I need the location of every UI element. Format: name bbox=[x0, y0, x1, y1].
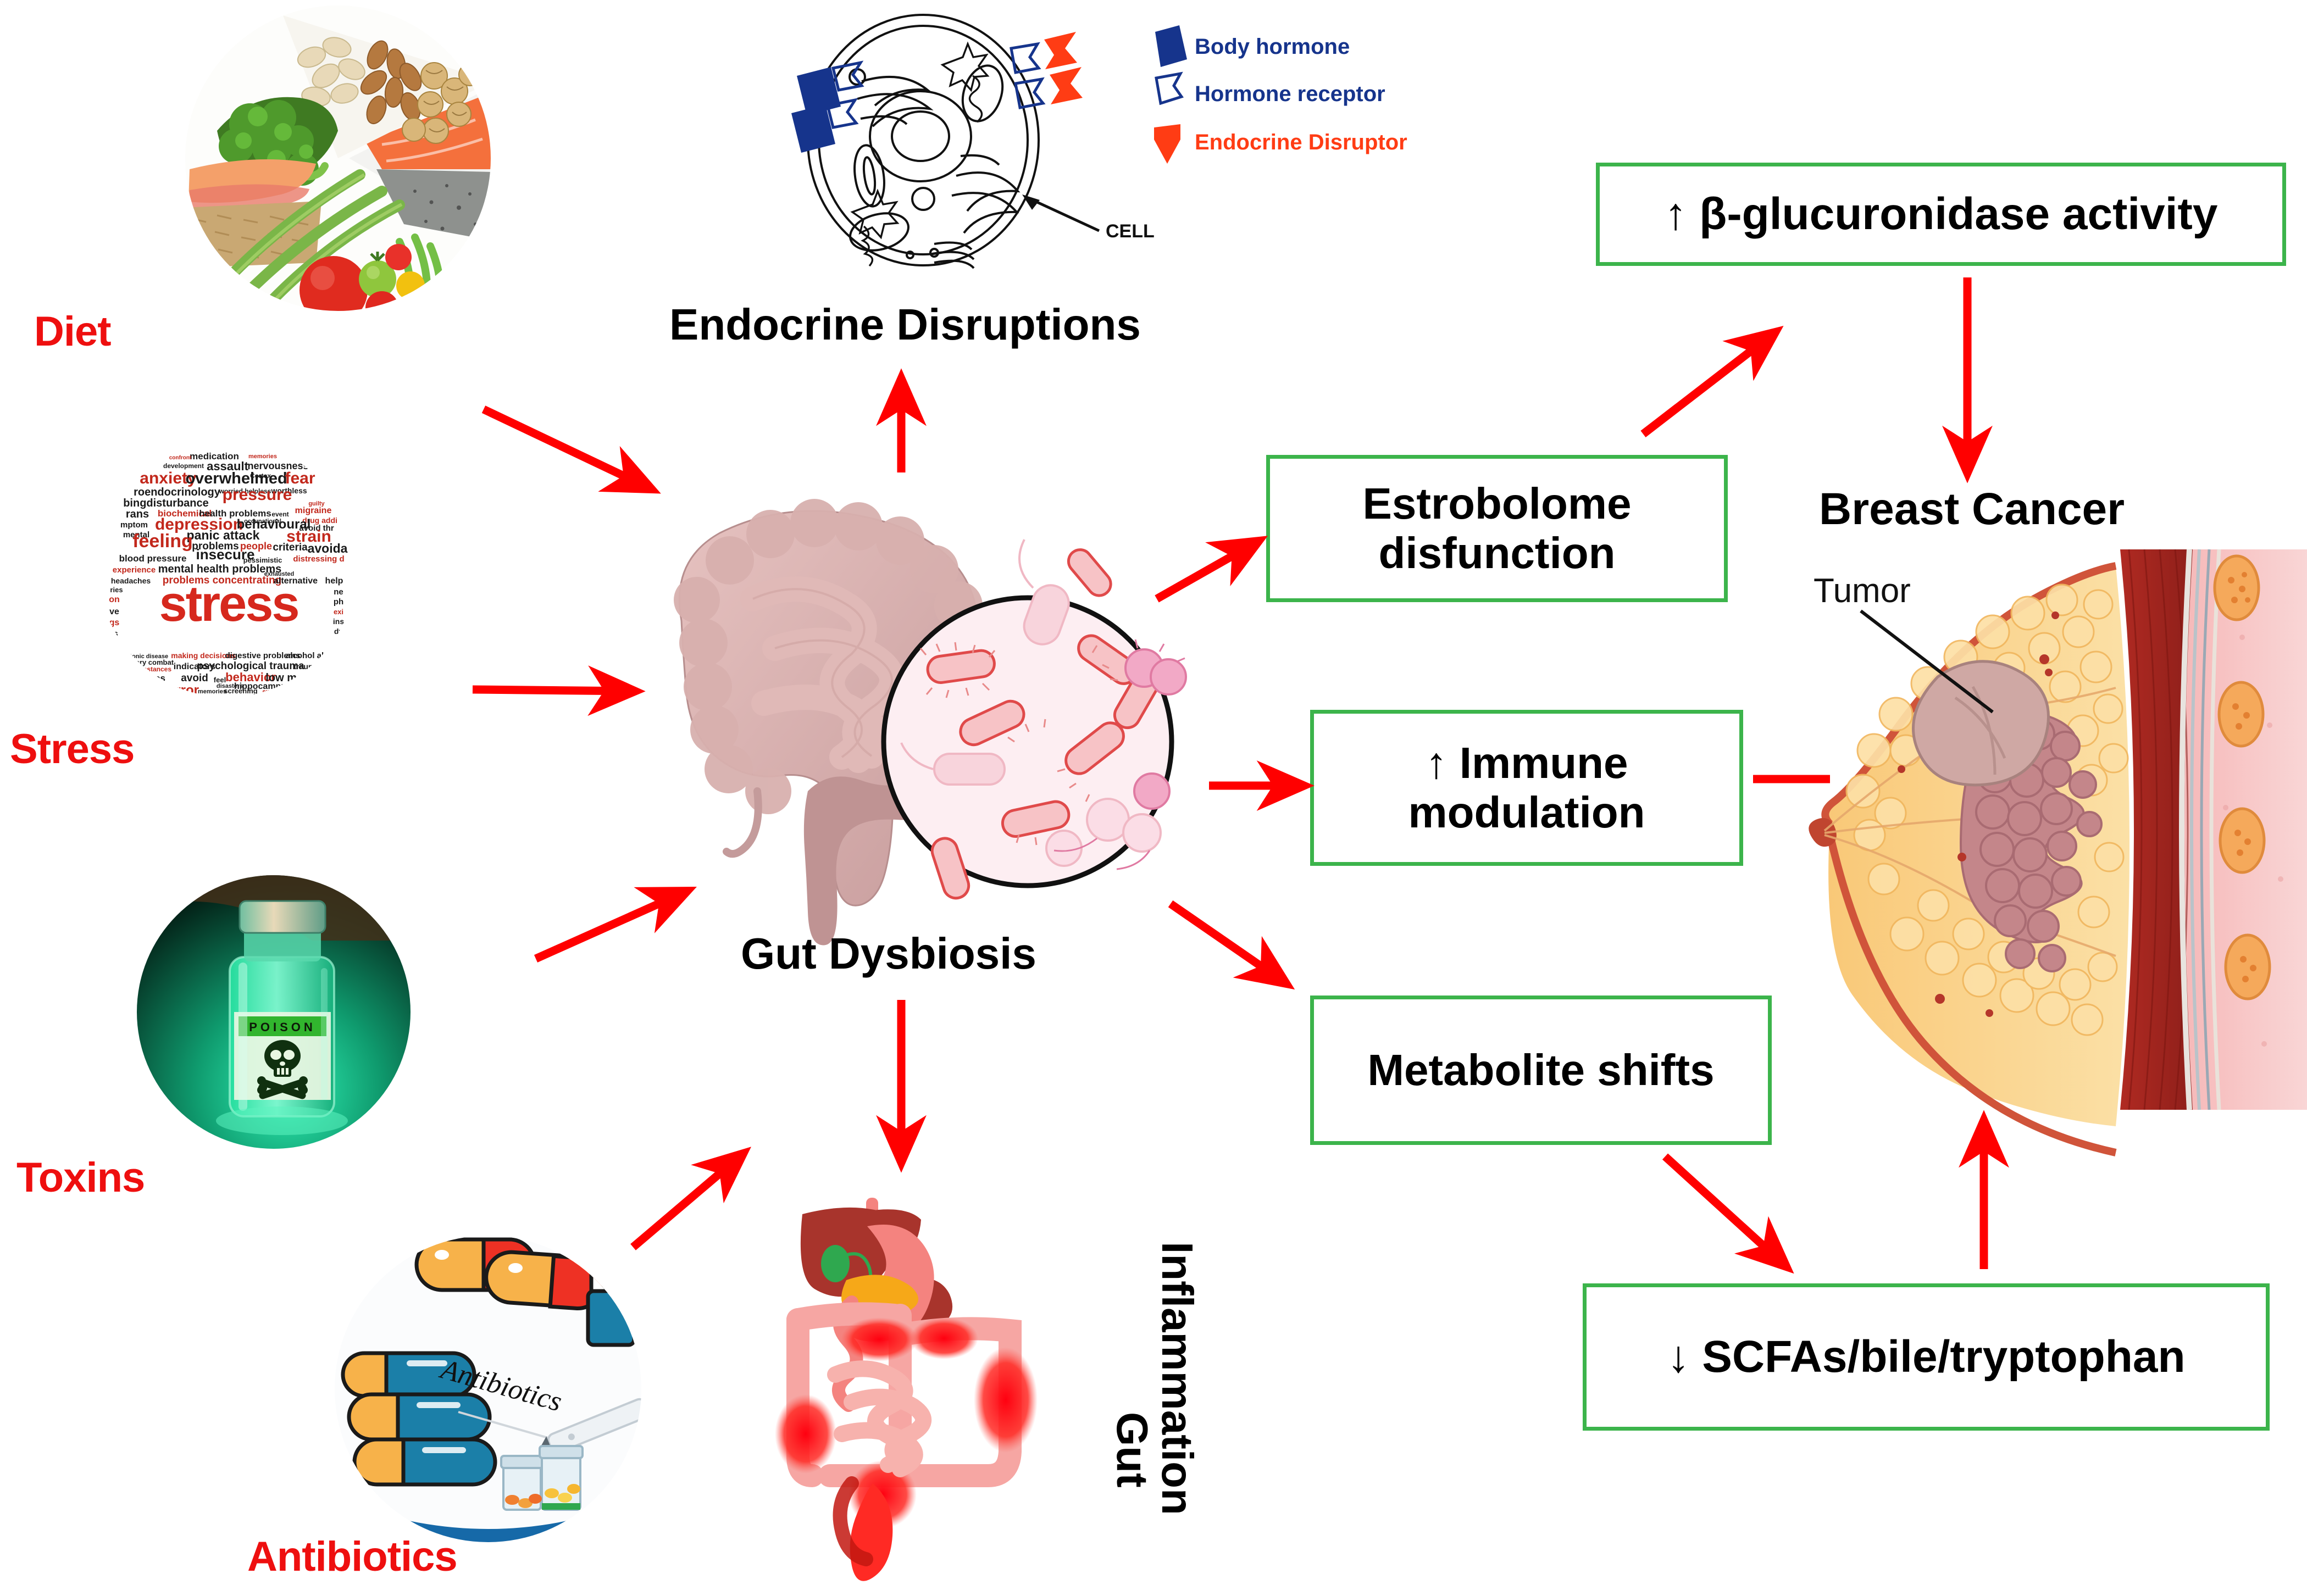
outcome-text-metabolite-shifts: Metabolite shifts bbox=[1367, 1046, 1714, 1095]
svg-text:exposure: exposure bbox=[263, 688, 290, 695]
arrow-gut-to-metabolite bbox=[1171, 904, 1286, 983]
source-label-diet: Diet bbox=[34, 308, 111, 355]
svg-text:development: development bbox=[163, 462, 204, 470]
svg-text:traumatic: traumatic bbox=[293, 662, 328, 671]
svg-text:feeling: feeling bbox=[132, 531, 193, 552]
outcome-box-scfas[interactable]: ↓ SCFAs/bile/tryptophan bbox=[1583, 1283, 2270, 1431]
svg-text:iilty illnesses: iilty illnesses bbox=[107, 673, 165, 683]
svg-text:migraine: migraine bbox=[295, 506, 332, 515]
gut-inflammation-label-group: Gut Inflammation bbox=[1121, 1231, 1231, 1582]
svg-text:ins: ins bbox=[333, 617, 344, 626]
arrow-antibiotics-to-gut bbox=[633, 1154, 743, 1247]
svg-text:pressure: pressure bbox=[223, 486, 292, 504]
svg-text:ac: ac bbox=[332, 651, 342, 660]
svg-text:headaches: headaches bbox=[111, 576, 151, 585]
figure-canvas: Diet medication memories confront develo… bbox=[0, 0, 2307, 1596]
svg-text:ne: ne bbox=[334, 587, 343, 597]
gut-dysbiosis-label: Gut Dysbiosis bbox=[741, 928, 1036, 979]
svg-text:ts: ts bbox=[110, 629, 118, 638]
svg-text:bingdisturbance: bingdisturbance bbox=[123, 497, 209, 509]
stress-word-cloud-image: medication memories confront development… bbox=[98, 440, 356, 698]
legend-item-body-hormone: Body hormone bbox=[1155, 25, 1350, 67]
svg-text:mental health problems: mental health problems bbox=[158, 563, 282, 575]
endocrine-disruptor-icon bbox=[1154, 124, 1180, 164]
outcome-box-estrobolome[interactable]: Estrobolome disfunction bbox=[1266, 455, 1728, 602]
hormone-receptor-icon bbox=[1156, 74, 1182, 103]
svg-text:rans: rans bbox=[126, 508, 149, 520]
outcome-text-beta-glucuronidase: ↑ β-glucuronidase activity bbox=[1665, 189, 2218, 240]
svg-text:stress: stress bbox=[159, 576, 298, 632]
source-label-antibiotics: Antibiotics bbox=[247, 1533, 457, 1581]
outcome-text-scfas: ↓ SCFAs/bile/tryptophan bbox=[1667, 1332, 2185, 1382]
source-label-stress: Stress bbox=[10, 725, 134, 773]
svg-text:avoid: avoid bbox=[181, 672, 208, 684]
svg-text:gs: gs bbox=[109, 618, 120, 627]
svg-text:ve: ve bbox=[109, 607, 119, 616]
svg-text:accident: accident bbox=[284, 685, 334, 698]
tumor-mass bbox=[1913, 661, 2048, 785]
outcome-text-immune-line2: modulation bbox=[1408, 788, 1645, 837]
toxins-image: POISON bbox=[136, 875, 411, 1149]
svg-text:help: help bbox=[325, 576, 343, 586]
svg-text:red: red bbox=[331, 661, 342, 670]
gut-inflammation-line2: Inflammation bbox=[1152, 1242, 1202, 1515]
gut-dysbiosis-image bbox=[626, 483, 1187, 956]
svg-text:ph: ph bbox=[334, 597, 343, 607]
legend-item-endocrine-disruptor: Endocrine Disruptor bbox=[1154, 124, 1407, 164]
svg-text:Endocrine Disruptor: Endocrine Disruptor bbox=[1195, 130, 1407, 154]
source-label-toxins: Toxins bbox=[16, 1154, 145, 1202]
arrow-metabolite-to-scfas bbox=[1665, 1156, 1786, 1266]
breast-cancer-image: Tumor bbox=[1808, 549, 2307, 1110]
breast-cancer-title: Breast Cancer bbox=[1819, 483, 2125, 535]
svg-text:POISON: POISON bbox=[249, 1020, 316, 1034]
arrow-estrobolome-to-beta bbox=[1643, 332, 1775, 434]
svg-text:Hormone receptor: Hormone receptor bbox=[1195, 82, 1385, 106]
svg-text:mptom: mptom bbox=[120, 520, 148, 530]
svg-text:ed: ed bbox=[110, 640, 120, 649]
diet-image bbox=[184, 4, 492, 312]
cell-label: CELL bbox=[1106, 221, 1155, 242]
outcome-text-immune-line1: ↑ Immune bbox=[1426, 738, 1628, 788]
svg-text:alcohol abuse: alcohol abuse bbox=[286, 651, 341, 660]
antibiotics-image: Antibiotics bbox=[334, 1235, 642, 1543]
legend: Body hormone Hormone receptor Endocrine … bbox=[1144, 19, 1485, 173]
svg-text:on: on bbox=[109, 595, 120, 604]
svg-text:ries: ries bbox=[110, 586, 123, 594]
gut-inflammation-line1: Gut bbox=[1107, 1412, 1157, 1488]
svg-text:memories: memories bbox=[198, 688, 226, 695]
tumor-label: Tumor bbox=[1814, 572, 1911, 610]
svg-text:confront: confront bbox=[169, 455, 192, 461]
svg-text:exi: exi bbox=[334, 608, 343, 616]
svg-text:fear: fear bbox=[285, 469, 315, 487]
outcome-box-beta-glucuronidase[interactable]: ↑ β-glucuronidase activity bbox=[1596, 163, 2286, 266]
arrow-diet-to-gut bbox=[484, 409, 651, 489]
svg-text:avoida: avoida bbox=[308, 541, 348, 555]
svg-text:circumstances: circumstances bbox=[125, 665, 171, 673]
svg-text:memories: memories bbox=[248, 453, 277, 460]
endocrine-disruptions-label: Endocrine Disruptions bbox=[669, 299, 1141, 350]
legend-item-hormone-receptor: Hormone receptor bbox=[1156, 74, 1385, 106]
svg-text:th: th bbox=[335, 638, 342, 647]
svg-text:criteria: criteria bbox=[273, 542, 308, 553]
outcome-text-estrobolome-line2: disfunction bbox=[1378, 529, 1615, 578]
svg-text:counr: counr bbox=[323, 684, 346, 693]
svg-text:dy: dy bbox=[334, 627, 343, 636]
arrow-stress-to-gut bbox=[473, 689, 635, 691]
outcome-box-metabolite-shifts[interactable]: Metabolite shifts bbox=[1310, 996, 1772, 1145]
svg-text:screening: screening bbox=[224, 687, 257, 695]
gut-inflammation-image bbox=[769, 1198, 1110, 1593]
svg-text:roendocrinology: roendocrinology bbox=[134, 486, 221, 498]
cell-schematic: CELL bbox=[714, 11, 1209, 269]
outcome-box-immune-modulation[interactable]: ↑ Immune modulation bbox=[1310, 710, 1743, 866]
svg-text:distressing d: distressing d bbox=[293, 554, 344, 564]
svg-text:horror: horror bbox=[159, 683, 199, 698]
body-hormone-icon bbox=[1155, 25, 1187, 67]
outcome-text-estrobolome-line1: Estrobolome bbox=[1363, 479, 1632, 529]
svg-text:Body hormone: Body hormone bbox=[1195, 35, 1350, 59]
svg-text:blood pressure: blood pressure bbox=[119, 553, 187, 564]
svg-text:diagn: diagn bbox=[314, 674, 337, 683]
svg-text:overwhelmed: overwhelmed bbox=[185, 470, 287, 487]
svg-text:experience: experience bbox=[113, 565, 156, 575]
